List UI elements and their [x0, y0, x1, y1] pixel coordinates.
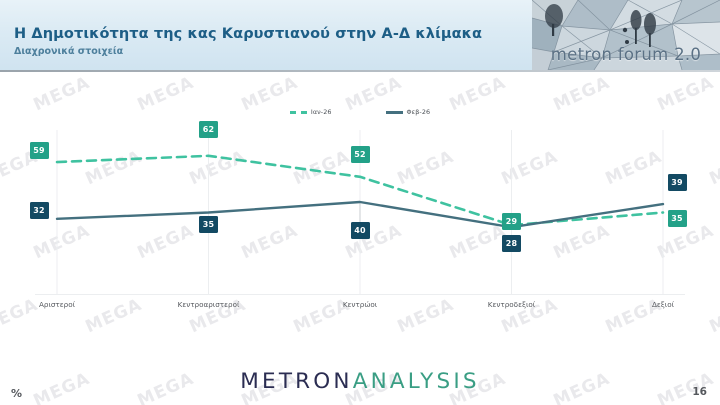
brand-analysis: ANALYSIS: [353, 369, 480, 394]
x-axis-tick-label: Κεντροαριστεροί: [178, 300, 240, 309]
chart-legend: Ιαν-26 Φεβ-26: [0, 108, 720, 116]
plot-area: 59625229353235402839: [35, 130, 685, 295]
metron-analysis-logo: METRONANALYSIS: [240, 369, 479, 394]
legend-label-jan: Ιαν-26: [311, 108, 332, 116]
data-label: 52: [351, 146, 370, 163]
header-divider: [0, 70, 720, 72]
x-axis-tick-label: Κεντρώοι: [343, 300, 377, 309]
data-label: 40: [351, 222, 370, 239]
x-axis-labels: ΑριστεροίΚεντροαριστεροίΚεντρώοιΚεντροδε…: [35, 300, 685, 316]
forum-logo-text: metron forum 2.0: [551, 45, 701, 64]
data-label: 35: [199, 216, 218, 233]
x-axis-tick-label: Δεξιοί: [652, 300, 674, 309]
data-label: 28: [502, 235, 521, 252]
data-label: 62: [199, 121, 218, 138]
x-axis-tick-label: Αριστεροί: [39, 300, 75, 309]
x-axis-tick-label: Κεντροδεξιοί: [488, 300, 535, 309]
chart-region: Ιαν-26 Φεβ-26 59625229353235402839 Αριστ…: [0, 72, 720, 325]
legend-swatch-jan-icon: [290, 111, 307, 114]
data-label: 59: [30, 142, 49, 159]
page-title: Η Δημοτικότητα της κας Καρυστιανού στην …: [14, 26, 482, 42]
data-label: 35: [668, 210, 687, 227]
metron-forum-logo: metron forum 2.0: [532, 0, 720, 70]
brand-metron: METRON: [240, 369, 352, 394]
data-label: 29: [502, 213, 521, 230]
page-number: 16: [692, 386, 707, 398]
data-label: 32: [30, 202, 49, 219]
slide-footer: % METRONANALYSIS 16: [0, 325, 720, 405]
legend-swatch-feb-icon: [386, 111, 403, 114]
legend-item-jan[interactable]: Ιαν-26: [290, 108, 332, 116]
legend-item-feb[interactable]: Φεβ-26: [386, 108, 431, 116]
legend-label-feb: Φεβ-26: [407, 108, 431, 116]
percent-unit-label: %: [11, 387, 22, 400]
page-subtitle: Διαχρονικά στοιχεία: [14, 46, 123, 57]
data-label: 39: [668, 174, 687, 191]
